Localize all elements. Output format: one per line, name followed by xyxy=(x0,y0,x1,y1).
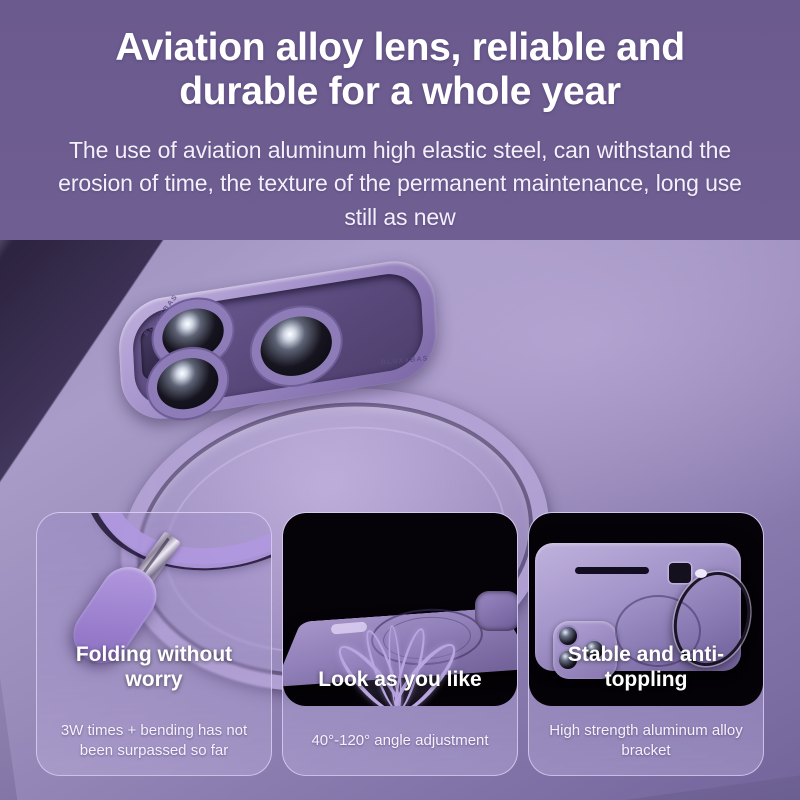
feature-card-caption: 40°-120° angle adjustment xyxy=(283,706,517,775)
phone-top-notch xyxy=(575,567,649,574)
camera-lens-bottom xyxy=(156,354,220,414)
feature-card-folding[interactable]: Folding without worry 3W times + bending… xyxy=(36,512,272,776)
feature-card-caption: 3W times + bending has not been surpasse… xyxy=(37,706,271,775)
camera-module-angle xyxy=(475,591,517,631)
header: Aviation alloy lens, reliable and durabl… xyxy=(0,0,800,234)
camera-lens-top xyxy=(161,304,225,364)
feature-card-title: Stable and anti-toppling xyxy=(529,643,763,706)
camera-lens-right xyxy=(259,311,333,381)
feature-card-stable[interactable]: Stable and anti-toppling High strength a… xyxy=(528,512,764,776)
feature-media-folding-hinge: Folding without worry xyxy=(37,513,271,706)
feature-card-angle[interactable]: Look as you like 40°-120° angle adjustme… xyxy=(282,512,518,776)
feature-card-list: Folding without worry 3W times + bending… xyxy=(0,512,800,780)
page-subtitle: The use of aviation aluminum high elasti… xyxy=(48,134,752,234)
feature-media-ring-bracket: Stable and anti-toppling xyxy=(529,513,763,706)
feature-card-caption: High strength aluminum alloy bracket xyxy=(529,706,763,775)
feature-media-petal-kickstand: Look as you like xyxy=(283,513,517,706)
product-feature-banner: BLUXXBAS BLUXXBAS Aviation alloy lens, r… xyxy=(0,0,800,800)
page-title: Aviation alloy lens, reliable and durabl… xyxy=(48,26,752,114)
feature-card-title: Folding without worry xyxy=(37,643,271,706)
feature-card-title: Look as you like xyxy=(283,668,517,706)
ring-bracket-clip xyxy=(669,563,691,583)
ring-bracket-highlight xyxy=(695,569,707,578)
